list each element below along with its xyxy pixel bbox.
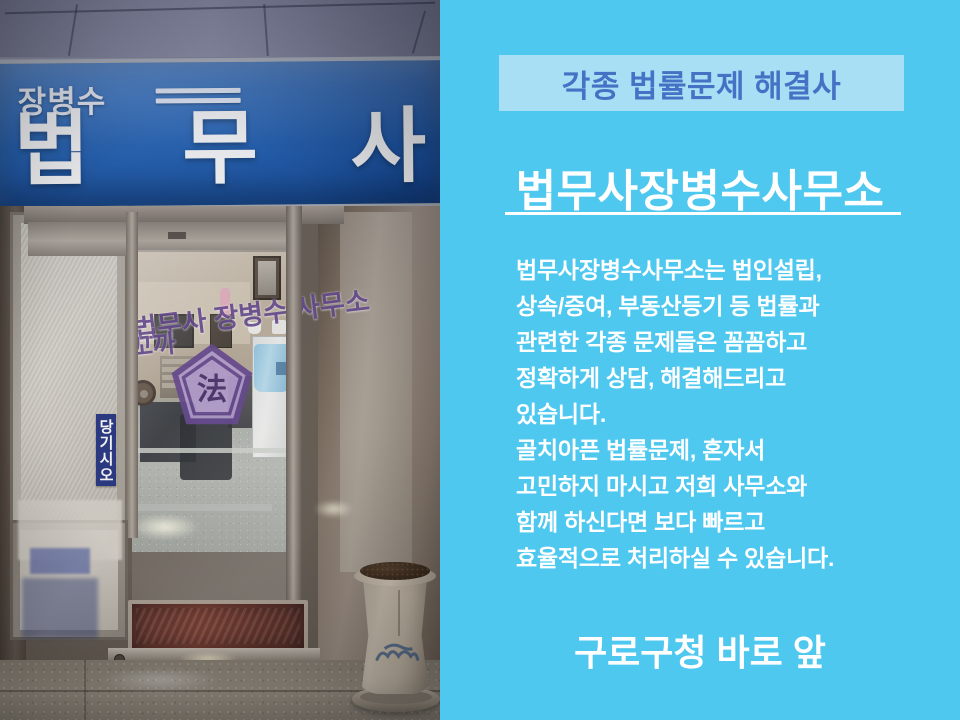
description-line: 관련한 각종 문제들은 꼼꼼하고 xyxy=(516,324,946,360)
slide-canvas: 장병수 법 무 사 xyxy=(0,0,960,720)
hanging-cloth xyxy=(220,288,230,318)
office-chair xyxy=(180,414,232,480)
floor-seam xyxy=(84,660,86,720)
water-bottle xyxy=(254,344,290,392)
pull-sign: 당기시오 xyxy=(96,414,116,486)
signboard-char-3: 사 xyxy=(350,108,426,187)
door-transom xyxy=(28,222,300,256)
cup xyxy=(272,320,286,334)
description-line: 효율적으로 처리하실 수 있습니다. xyxy=(516,540,946,576)
location-note: 구로구청 바로 앞 xyxy=(440,624,960,676)
framed-picture xyxy=(253,256,281,300)
signboard-char-2: 무 xyxy=(182,110,258,189)
description-text: 법무사장병수사무소는 법인설립, 상속/증여, 부동산등기 등 법률과 관련한 … xyxy=(516,252,946,576)
signboard-main-text: 법 무 사 xyxy=(14,108,427,190)
planter-soil xyxy=(360,562,430,580)
transom-label-plate xyxy=(168,232,186,239)
description-line: 상속/증여, 부동산등기 등 법률과 xyxy=(516,288,946,324)
info-panel: 각종 법률문제 해결사 법무사장병수사무소 법무사장병수사무소는 법인설립, 상… xyxy=(440,0,960,720)
description-line: 고민하지 마시고 저희 사무소와 xyxy=(516,468,946,504)
door-mullion xyxy=(126,212,138,538)
office-interior-view xyxy=(132,252,292,552)
cup xyxy=(248,322,261,334)
framed-picture-small xyxy=(210,314,232,348)
title-underline xyxy=(505,212,901,215)
description-line: 법무사장병수사무소는 법인설립, xyxy=(516,252,946,288)
description-line: 함께 하신다면 보다 빠르고 xyxy=(516,504,946,540)
planter-body xyxy=(358,572,432,694)
ceramic-planter-urn xyxy=(352,548,440,720)
description-line: 골치아픈 법률문제, 혼자서 xyxy=(516,432,946,468)
posted-notice-blue xyxy=(22,578,98,638)
bookshelf xyxy=(160,356,214,398)
storefront-photo: 장병수 법 무 사 xyxy=(0,0,440,720)
posted-notice-blue xyxy=(30,548,90,574)
ceiling-seam xyxy=(263,4,268,56)
door-mat xyxy=(128,600,308,652)
description-line: 정확하게 상담, 해결해드리고 xyxy=(516,360,946,396)
planter-drip-stain xyxy=(398,590,400,636)
monitor xyxy=(154,314,194,348)
planter-blue-motif-icon xyxy=(374,642,420,666)
shop-signboard: 장병수 법 무 사 xyxy=(0,56,440,212)
office-title: 법무사장병수사무소 xyxy=(440,155,960,219)
ceiling-seam xyxy=(5,2,435,14)
description-line: 있습니다. xyxy=(516,396,946,432)
right-wall-panel xyxy=(340,212,412,572)
ceiling-seam xyxy=(412,11,426,54)
metal-rail xyxy=(134,504,272,511)
metal-rail xyxy=(138,448,288,453)
door-mullion xyxy=(286,206,302,606)
highlight-banner: 각종 법률문제 해결사 xyxy=(499,55,904,111)
floor-reflection xyxy=(100,668,220,692)
highlight-banner-text: 각종 법률문제 해결사 xyxy=(562,61,841,106)
drop-ceiling xyxy=(0,0,440,62)
signboard-char-1: 법 xyxy=(14,111,90,190)
